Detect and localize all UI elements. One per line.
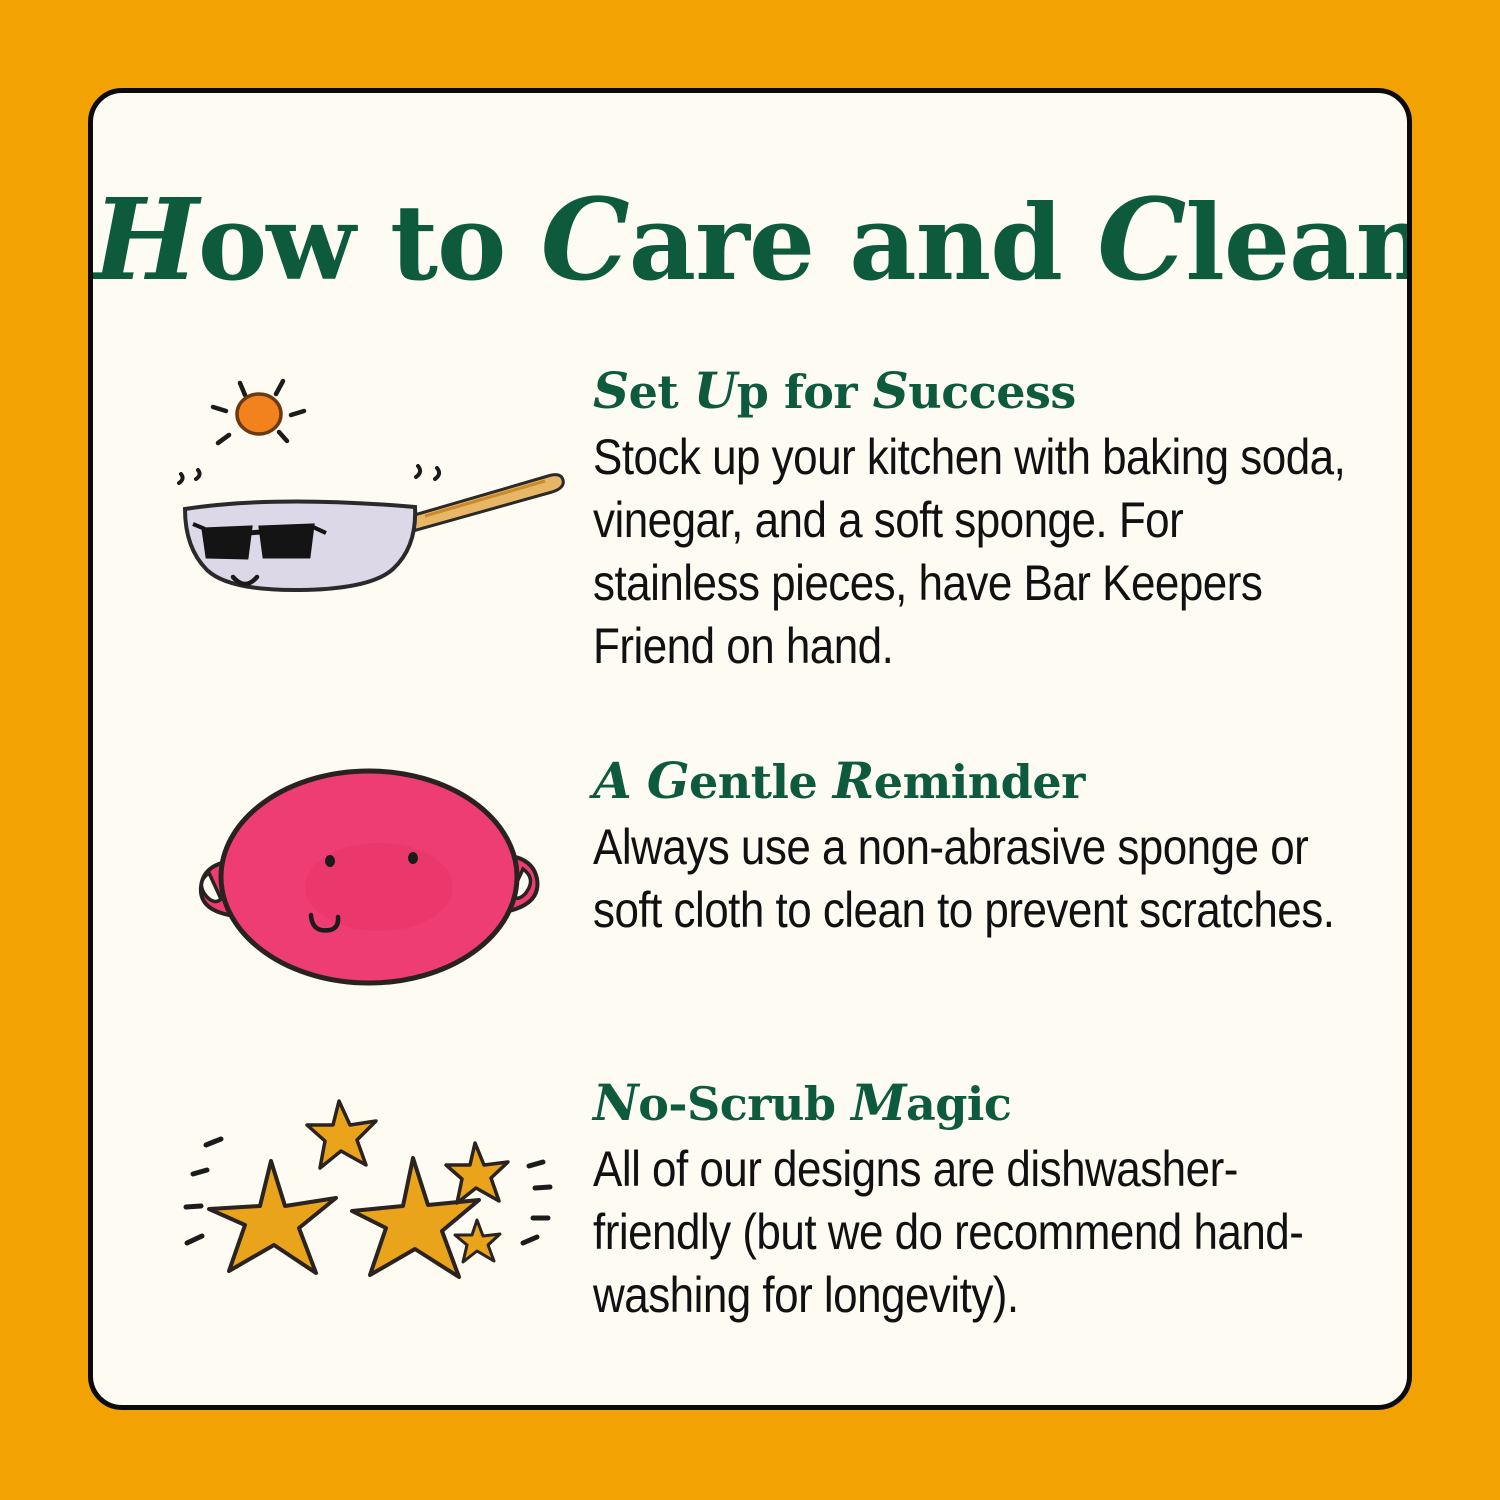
pink-dish-illustration-svg bbox=[173, 751, 573, 1001]
swash-capital: C bbox=[541, 175, 629, 306]
frying-pan-with-sunglasses-and-sun-icon bbox=[153, 361, 593, 611]
swash-capital: S bbox=[593, 361, 629, 420]
sparkle-dashes-right-icon bbox=[523, 1162, 550, 1243]
pan-handle-icon bbox=[411, 475, 563, 531]
stars-illustration-svg bbox=[163, 1073, 583, 1323]
star-medium-right-icon bbox=[446, 1143, 508, 1203]
dish-left-eye-icon bbox=[325, 855, 335, 867]
sun-icon bbox=[237, 394, 281, 434]
care-section-a-gentle-reminder: A Gentle Reminder Always use a non-abras… bbox=[153, 751, 1353, 1001]
swash-capital: M bbox=[851, 1073, 906, 1132]
steam-marks-left-icon bbox=[179, 470, 200, 483]
section-2-heading: A Gentle Reminder bbox=[593, 755, 1353, 808]
swash-capital: U bbox=[694, 361, 737, 420]
section-2-copy: A Gentle Reminder Always use a non-abras… bbox=[593, 751, 1353, 942]
swash-capital: R bbox=[833, 751, 874, 810]
section-3-body: All of our designs are dishwasher-friend… bbox=[593, 1138, 1349, 1327]
section-3-heading: No-Scrub Magic bbox=[593, 1077, 1353, 1130]
sparkle-dashes-left-icon bbox=[186, 1139, 221, 1243]
page-title: How to Care and Clean bbox=[93, 185, 1407, 297]
care-section-no-scrub-magic: No-Scrub Magic All of our designs are di… bbox=[153, 1073, 1353, 1327]
pink-casserole-dish-face-icon bbox=[153, 751, 593, 1001]
swash-capital: G bbox=[647, 751, 689, 810]
care-instructions-card: How to Care and Clean bbox=[88, 88, 1412, 1410]
steam-marks-right-icon bbox=[416, 466, 439, 479]
section-3-copy: No-Scrub Magic All of our designs are di… bbox=[593, 1073, 1353, 1327]
care-section-set-up-for-success: Set Up for Success Stock up your kitchen… bbox=[153, 361, 1353, 678]
sparkling-gold-stars-icon bbox=[153, 1073, 593, 1323]
swash-capital: S bbox=[873, 361, 909, 420]
star-small-icon bbox=[455, 1220, 500, 1262]
section-1-heading: Set Up for Success bbox=[593, 365, 1353, 418]
swash-capital: H bbox=[93, 175, 198, 306]
swash-capital: C bbox=[1097, 175, 1185, 306]
section-1-copy: Set Up for Success Stock up your kitchen… bbox=[593, 361, 1353, 678]
section-1-body: Stock up your kitchen with baking soda, … bbox=[593, 426, 1349, 678]
section-2-body: Always use a non-abrasive sponge or soft… bbox=[593, 816, 1349, 942]
frying-pan-illustration-svg bbox=[163, 361, 583, 611]
star-big-left-icon bbox=[209, 1161, 336, 1273]
dish-right-eye-icon bbox=[408, 852, 418, 864]
star-top-icon bbox=[307, 1101, 376, 1168]
poster-page: How to Care and Clean bbox=[0, 0, 1500, 1500]
swash-capital: N bbox=[593, 1073, 638, 1132]
swash-capital: A bbox=[593, 751, 631, 810]
